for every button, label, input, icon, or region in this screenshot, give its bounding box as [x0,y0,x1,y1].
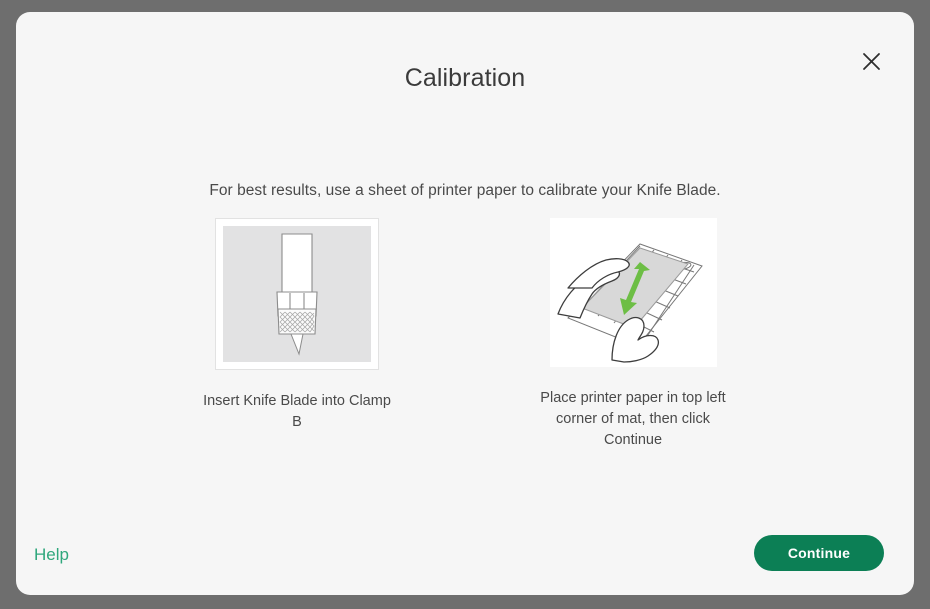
page-title: Calibration [16,64,914,93]
steps-container: Insert Knife Blade into Clamp B [16,218,914,451]
paper-on-mat-illustration [550,218,717,367]
step-insert-blade: Insert Knife Blade into Clamp B [197,218,397,451]
step-caption: Place printer paper in top left corner o… [533,388,733,451]
knife-blade-in-clamp-illustration [215,218,379,370]
continue-button[interactable]: Continue [754,535,884,571]
step-caption: Insert Knife Blade into Clamp B [197,391,397,433]
calibration-dialog: Calibration For best results, use a shee… [16,12,914,595]
instruction-text: For best results, use a sheet of printer… [16,182,914,200]
dialog-footer: Help Continue [16,505,914,595]
help-link[interactable]: Help [34,545,69,565]
screen: Calibration For best results, use a shee… [0,0,930,609]
step-place-paper: Place printer paper in top left corner o… [533,218,733,451]
